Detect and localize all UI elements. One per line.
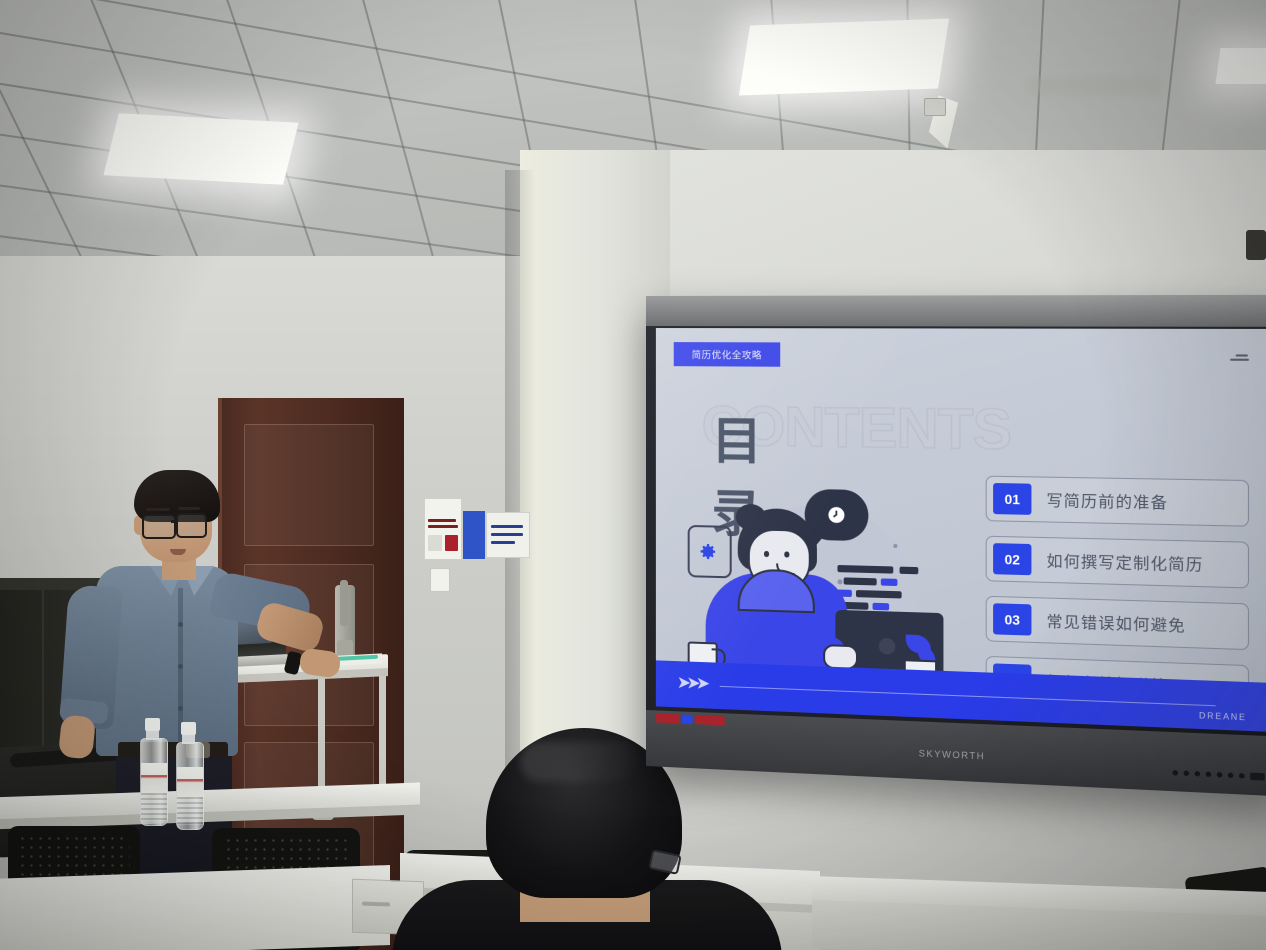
code-line: [873, 603, 890, 611]
belt: [118, 742, 228, 758]
wall-poster-text: [486, 512, 530, 558]
decor-dot: [893, 544, 897, 548]
ir-sensor-icon: [1250, 773, 1265, 781]
contents-item-label: 写简历前的准备: [1046, 489, 1168, 513]
eyebrow: [178, 507, 200, 510]
classroom-photo: 简历优化全攻略 CONTENTS 目录: [0, 0, 1266, 950]
contents-item-number: 03: [993, 603, 1031, 635]
wall-poster-blue: [462, 510, 486, 560]
illustration-laptop-logo: [879, 638, 896, 655]
code-line: [837, 565, 893, 574]
contents-item[interactable]: 03 常见错误如何避免: [986, 596, 1249, 650]
slide-corner-mark: [1230, 354, 1249, 363]
poster-swatch: [428, 535, 442, 551]
presentation-slide: 简历优化全攻略 CONTENTS 目录: [656, 328, 1266, 732]
gear-icon: [698, 541, 718, 562]
display-controls[interactable]: [1173, 769, 1265, 781]
glasses-lens: [176, 513, 207, 538]
display-button[interactable]: [1217, 772, 1223, 778]
code-line: [844, 577, 877, 585]
ceiling-light-panel: [1215, 48, 1266, 84]
door-handle[interactable]: [340, 580, 348, 626]
contents-item-label: 如何撰写定制化简历: [1046, 549, 1203, 575]
water-bottle[interactable]: [140, 738, 168, 826]
code-line: [856, 590, 902, 598]
clock-icon: [825, 504, 848, 527]
chevrons-icon: ➤➤➤: [678, 673, 707, 692]
display-button[interactable]: [1239, 773, 1245, 779]
wall-sensor-icon: [924, 98, 946, 116]
wall-smudge: [1030, 78, 1160, 94]
table-leg: [379, 670, 386, 800]
display-screen[interactable]: 简历优化全攻略 CONTENTS 目录: [656, 328, 1266, 732]
contents-item[interactable]: 01 写简历前的准备: [986, 476, 1249, 527]
poster-text-line: [428, 525, 458, 528]
contents-item[interactable]: 02 如何撰写定制化简历: [986, 536, 1249, 589]
slide-badge: 简历优化全攻略: [674, 342, 780, 367]
slide-badge-label: 简历优化全攻略: [692, 347, 762, 361]
front-table: [0, 865, 390, 950]
display-stickers: [656, 713, 725, 725]
water-bottle[interactable]: [176, 742, 204, 830]
hair-highlight: [520, 742, 640, 782]
poster-swatch: [445, 535, 458, 551]
glasses-bridge: [171, 520, 178, 523]
wall-poster: [424, 498, 462, 560]
eyebrow: [146, 508, 170, 511]
display-button[interactable]: [1206, 772, 1212, 778]
display-top-bezel: [646, 295, 1266, 327]
contents-item-number: 01: [993, 483, 1031, 515]
bottle-cap[interactable]: [145, 718, 160, 731]
display-sticker: [656, 713, 680, 723]
shirt-button: [178, 622, 183, 627]
contents-item-label: 常见错误如何避免: [1046, 610, 1185, 636]
display-button[interactable]: [1184, 771, 1190, 777]
display-button[interactable]: [1195, 771, 1201, 777]
shirt-button: [178, 664, 183, 669]
ceiling-light-panel: [103, 113, 298, 185]
glasses-lens: [142, 514, 176, 539]
bottle-label: [177, 767, 203, 797]
presenter-left-hand: [58, 714, 96, 759]
wall-fixture: [1246, 230, 1266, 260]
bottle-ridges: [177, 797, 203, 825]
display-sticker: [695, 715, 725, 725]
display-button[interactable]: [1228, 773, 1234, 779]
door-panel: [244, 424, 374, 546]
light-switch[interactable]: [430, 568, 450, 592]
eye: [764, 551, 769, 557]
poster-text-line: [491, 541, 515, 544]
footer-brand: DREANE: [1199, 711, 1247, 722]
footer-rule: [720, 685, 1216, 706]
code-line: [881, 578, 898, 586]
shirt-button: [178, 706, 183, 711]
display-brand-label: SKYWORTH: [919, 748, 985, 761]
eye: [784, 551, 789, 557]
bottle-label: [141, 763, 167, 793]
interactive-display[interactable]: 简历优化全攻略 CONTENTS 目录: [646, 295, 1266, 797]
code-line: [900, 567, 919, 575]
slide-illustration: [684, 479, 935, 689]
display-button[interactable]: [1173, 770, 1179, 776]
poster-text-line: [491, 533, 523, 536]
illustration-person-bun: [736, 504, 766, 531]
contents-item-number: 02: [993, 543, 1031, 575]
ceiling-light-panel: [739, 19, 949, 96]
bottle-cap[interactable]: [181, 722, 196, 735]
bottle-ridges: [141, 793, 167, 821]
poster-text-line: [491, 525, 523, 528]
poster-text-line: [428, 519, 456, 522]
display-sticker: [682, 715, 693, 725]
decor-dot: [837, 579, 842, 584]
